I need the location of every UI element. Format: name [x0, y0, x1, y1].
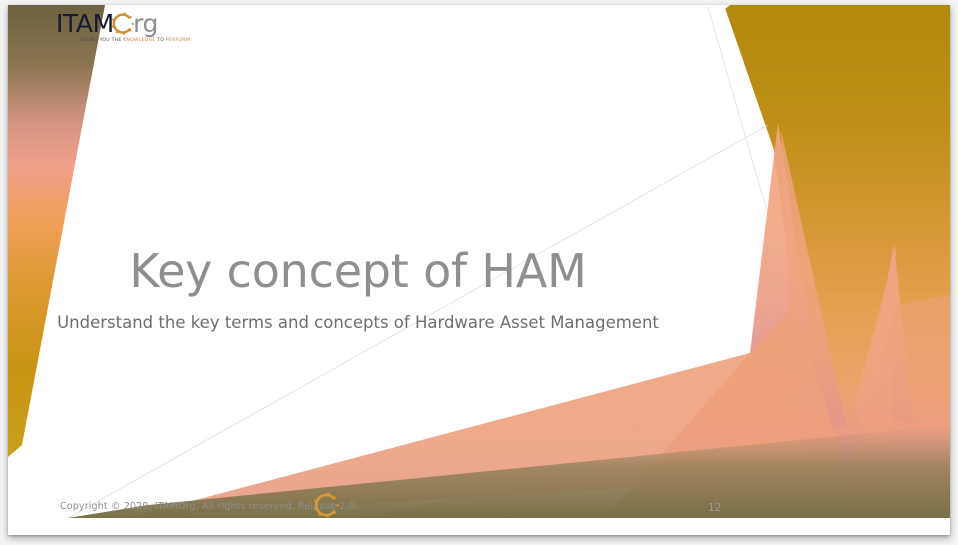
- thin-diagonal-hairline-upper: [708, 7, 794, 305]
- page-title: Key concept of HAM: [8, 248, 708, 294]
- brand-wordmark-lead: ITAM: [56, 9, 114, 38]
- title-block: Key concept of HAM Understand the key te…: [8, 248, 708, 333]
- brand-tagline-highlight-1: KNOWLEDGE: [123, 38, 155, 43]
- left-gradient-wedge-top: [8, 5, 105, 457]
- brand-tagline: GIVING YOU THE KNOWLEDGE TO PERFORM: [80, 38, 190, 43]
- brand-tagline-mid: TO: [156, 38, 166, 43]
- zigzag-spear-1: [781, 130, 846, 437]
- ring-gear-icon: [111, 12, 134, 35]
- brand-wordmark-tail: rg: [133, 9, 158, 38]
- footer-bar: Copyright © 2020, ITAMOrg. All rights re…: [8, 498, 950, 518]
- right-zigzag-triangles: [750, 123, 808, 353]
- brand-tagline-lead: GIVING YOU THE: [80, 38, 123, 43]
- left-gradient-wedge: [8, 5, 105, 457]
- brand-logo: ITAMOrg GIV: [56, 9, 184, 53]
- zigzag-spear-2b: [854, 247, 896, 505]
- brand-wordmark: ITAMOrg: [56, 9, 158, 38]
- zigzag-wing-left: [128, 305, 848, 518]
- page-number: 12: [708, 502, 721, 514]
- page-subtitle: Understand the key terms and concepts of…: [8, 294, 708, 333]
- brand-tagline-highlight-2: PERFORM: [166, 38, 190, 43]
- zigzag-wing-right: [838, 295, 950, 518]
- zigzag-spear-2: [864, 243, 913, 425]
- slide-page: ITAMOrg GIV: [8, 5, 950, 535]
- ring-gear-icon: [313, 492, 339, 518]
- slide-viewport: ITAMOrg GIV: [0, 0, 958, 545]
- slide-canvas: ITAMOrg GIV: [8, 5, 950, 518]
